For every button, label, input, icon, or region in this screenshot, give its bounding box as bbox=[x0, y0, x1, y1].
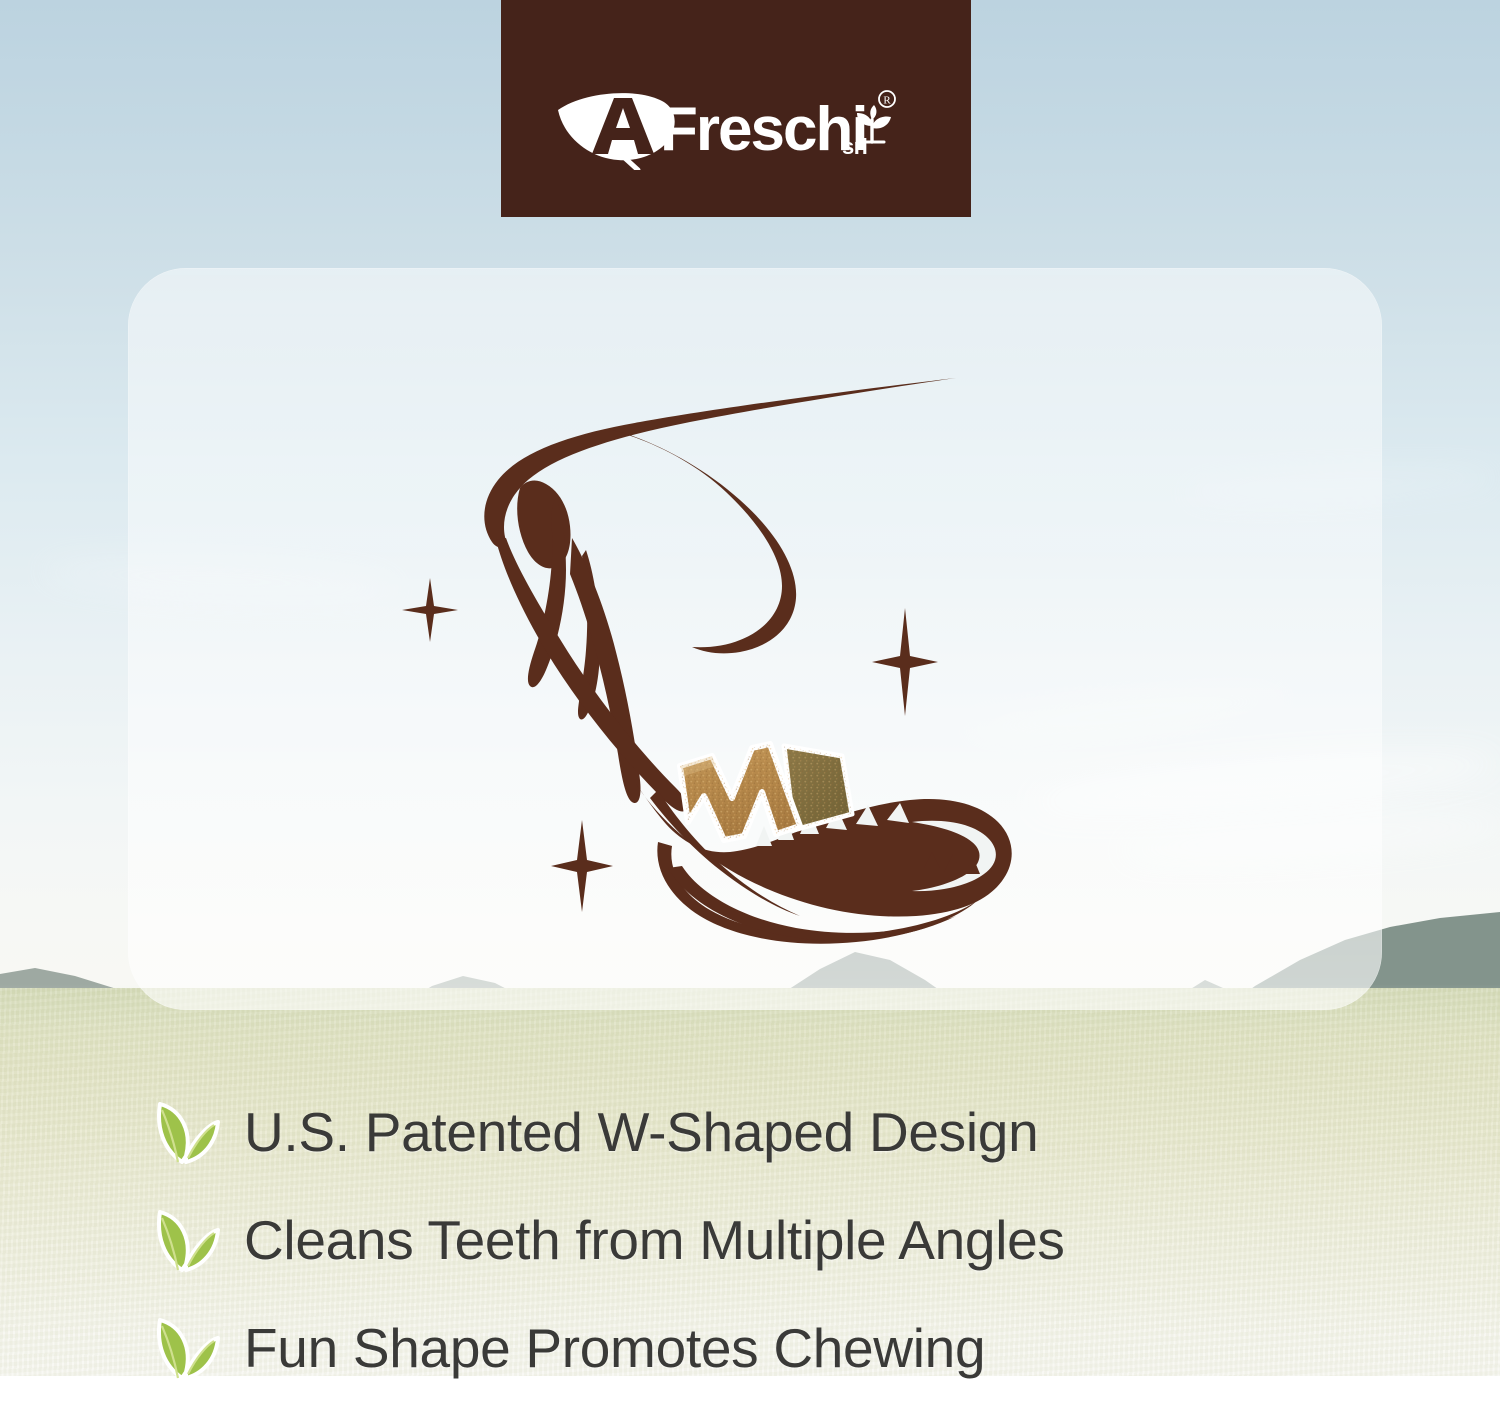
leaf-bullet-icon bbox=[146, 1094, 222, 1170]
leaf-bullet-icon bbox=[146, 1310, 222, 1386]
feature-label: U.S. Patented W-Shaped Design bbox=[244, 1105, 1038, 1160]
svg-text:R: R bbox=[883, 94, 891, 106]
logo-wordmark: Freschi bbox=[660, 95, 867, 164]
brand-logo: Freschi srl R bbox=[556, 84, 916, 170]
treat-w-face bbox=[680, 744, 800, 840]
registered-trademark-icon: R bbox=[879, 91, 895, 107]
feature-label: Fun Shape Promotes Chewing bbox=[244, 1321, 985, 1376]
sparkle-right-upper bbox=[872, 608, 938, 716]
feature-item: Fun Shape Promotes Chewing bbox=[146, 1294, 1486, 1402]
brand-logo-bar: Freschi srl R bbox=[501, 0, 971, 217]
feature-label: Cleans Teeth from Multiple Angles bbox=[244, 1213, 1065, 1268]
feature-list: U.S. Patented W-Shaped Design Cleans Tee… bbox=[146, 1078, 1486, 1402]
sparkle-left-lower bbox=[551, 820, 613, 912]
leaf-bullet-icon bbox=[146, 1202, 222, 1278]
logo-suffix: srl bbox=[842, 134, 867, 159]
feature-item: U.S. Patented W-Shaped Design bbox=[146, 1078, 1486, 1186]
dog-open-mouth-illustration bbox=[400, 360, 1040, 960]
w-shaped-dental-chew bbox=[666, 726, 866, 854]
feature-item: Cleans Teeth from Multiple Angles bbox=[146, 1186, 1486, 1294]
sparkle-left-upper bbox=[402, 578, 458, 642]
